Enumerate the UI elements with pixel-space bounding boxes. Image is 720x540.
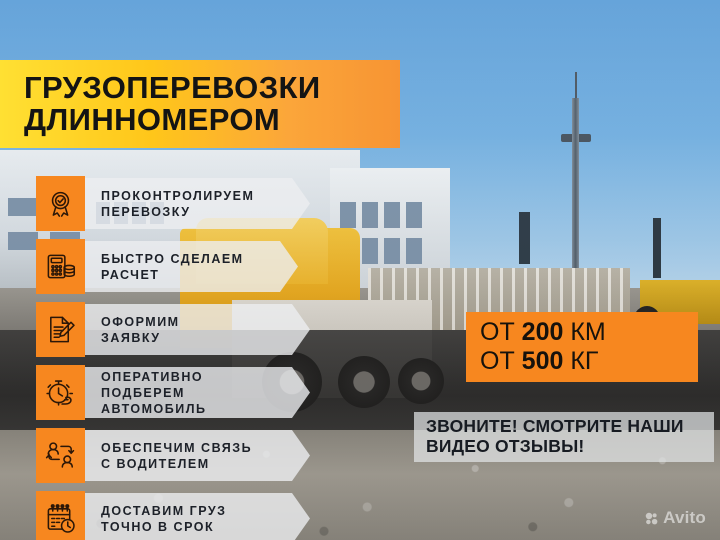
weight-value: 500 bbox=[522, 347, 564, 375]
feature-item: ДОСТАВИМ ГРУЗ ТОЧНО В СРОК bbox=[0, 491, 330, 540]
distance-unit: КМ bbox=[563, 318, 605, 346]
feature-label-banner: ОПЕРАТИВНО ПОДБЕРЕМ АВТОМОБИЛЬ bbox=[85, 367, 310, 418]
stopwatch-hand-icon bbox=[36, 365, 85, 420]
feature-label-banner: ПРОКОНТРОЛИРУЕМ ПЕРЕВОЗКУ bbox=[85, 178, 310, 229]
calendar-clock-icon bbox=[36, 491, 85, 540]
feature-spacer bbox=[0, 357, 330, 365]
feature-spacer bbox=[0, 420, 330, 428]
feature-spacer bbox=[0, 483, 330, 491]
weight-unit: КГ bbox=[563, 347, 598, 375]
people-connection-icon bbox=[36, 428, 85, 483]
distance-prefix: ОТ bbox=[480, 318, 522, 346]
feature-label-banner: ДОСТАВИМ ГРУЗ ТОЧНО В СРОК bbox=[85, 493, 310, 540]
document-pen-icon bbox=[36, 302, 85, 357]
feature-label-banner: ОФОРМИМ ЗАЯВКУ bbox=[85, 304, 310, 355]
minimum-distance: ОТ 200 КМ bbox=[480, 318, 698, 347]
feature-spacer bbox=[0, 294, 330, 302]
minimum-order-badge: ОТ 200 КМ ОТ 500 КГ bbox=[466, 312, 698, 382]
cta-line-1: ЗВОНИТЕ! СМОТРИТЕ НАШИ bbox=[426, 417, 714, 437]
cta-line-2: ВИДЕО ОТЗЫВЫ! bbox=[426, 437, 714, 457]
feature-label: ДОСТАВИМ ГРУЗ ТОЧНО В СРОК bbox=[101, 503, 226, 535]
call-to-action[interactable]: ЗВОНИТЕ! СМОТРИТЕ НАШИ ВИДЕО ОТЗЫВЫ! bbox=[414, 412, 714, 462]
feature-label: ПРОКОНТРОЛИРУЕМ ПЕРЕВОЗКУ bbox=[101, 188, 254, 220]
calculator-icon bbox=[36, 239, 85, 294]
feature-label: ОБЕСПЕЧИМ СВЯЗЬ С ВОДИТЕЛЕМ bbox=[101, 440, 252, 472]
feature-label: ОФОРМИМ ЗАЯВКУ bbox=[101, 314, 180, 346]
feature-list: ПРОКОНТРОЛИРУЕМ ПЕРЕВОЗКУ БЫСТРО СДЕЛАЕМ… bbox=[0, 176, 330, 540]
feature-item: ПРОКОНТРОЛИРУЕМ ПЕРЕВОЗКУ bbox=[0, 176, 330, 231]
headline-line-2: ДЛИННОМЕРОМ bbox=[24, 104, 400, 136]
award-badge-icon bbox=[36, 176, 85, 231]
feature-item: ОПЕРАТИВНО ПОДБЕРЕМ АВТОМОБИЛЬ bbox=[0, 365, 330, 420]
feature-item: ОФОРМИМ ЗАЯВКУ bbox=[0, 302, 330, 357]
feature-label: ОПЕРАТИВНО ПОДБЕРЕМ АВТОМОБИЛЬ bbox=[101, 369, 207, 417]
feature-label: БЫСТРО СДЕЛАЕМ РАСЧЕТ bbox=[101, 251, 244, 283]
feature-item: ОБЕСПЕЧИМ СВЯЗЬ С ВОДИТЕЛЕМ bbox=[0, 428, 330, 483]
feature-spacer bbox=[0, 231, 330, 239]
weight-prefix: ОТ bbox=[480, 347, 522, 375]
headline-banner: ГРУЗОПЕРЕВОЗКИ ДЛИННОМЕРОМ bbox=[0, 60, 400, 148]
avito-logo-icon bbox=[644, 511, 659, 526]
avito-watermark: Avito bbox=[644, 508, 706, 528]
minimum-weight: ОТ 500 КГ bbox=[480, 347, 698, 376]
headline-line-1: ГРУЗОПЕРЕВОЗКИ bbox=[24, 72, 400, 104]
distance-value: 200 bbox=[522, 318, 564, 346]
advertisement-poster: ГРУЗОПЕРЕВОЗКИ ДЛИННОМЕРОМ ПРОКОНТРОЛИРУ… bbox=[0, 0, 720, 540]
feature-item: БЫСТРО СДЕЛАЕМ РАСЧЕТ bbox=[0, 239, 330, 294]
feature-label-banner: ОБЕСПЕЧИМ СВЯЗЬ С ВОДИТЕЛЕМ bbox=[85, 430, 310, 481]
feature-label-banner: БЫСТРО СДЕЛАЕМ РАСЧЕТ bbox=[85, 241, 298, 292]
avito-wordmark: Avito bbox=[663, 508, 706, 528]
